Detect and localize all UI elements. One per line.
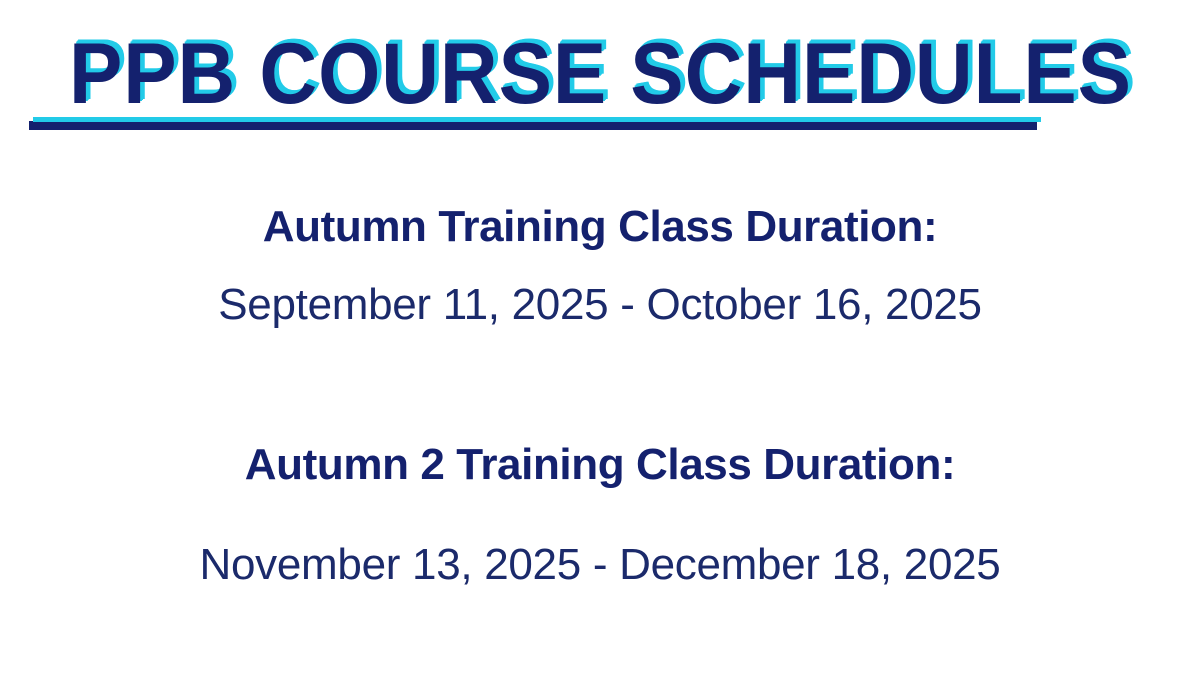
- schedule-list: Autumn Training Class Duration: Septembe…: [0, 196, 1200, 596]
- schedule-dates: November 13, 2025 - December 18, 2025: [0, 534, 1200, 596]
- slide-canvas: PPB COURSE SCHEDULES Autumn Training Cla…: [0, 0, 1200, 675]
- page-title: PPB COURSE SCHEDULES: [69, 34, 1132, 114]
- schedule-dates: September 11, 2025 - October 16, 2025: [0, 274, 1200, 336]
- title-wrapper: PPB COURSE SCHEDULES: [27, 34, 1174, 130]
- schedule-block-autumn-2: Autumn 2 Training Class Duration: Novemb…: [0, 434, 1200, 596]
- schedule-heading: Autumn Training Class Duration:: [0, 196, 1200, 258]
- schedule-block-autumn: Autumn Training Class Duration: Septembe…: [0, 196, 1200, 336]
- title-block: PPB COURSE SCHEDULES: [0, 34, 1200, 130]
- schedule-heading: Autumn 2 Training Class Duration:: [0, 434, 1200, 496]
- title-underline: [29, 121, 1037, 130]
